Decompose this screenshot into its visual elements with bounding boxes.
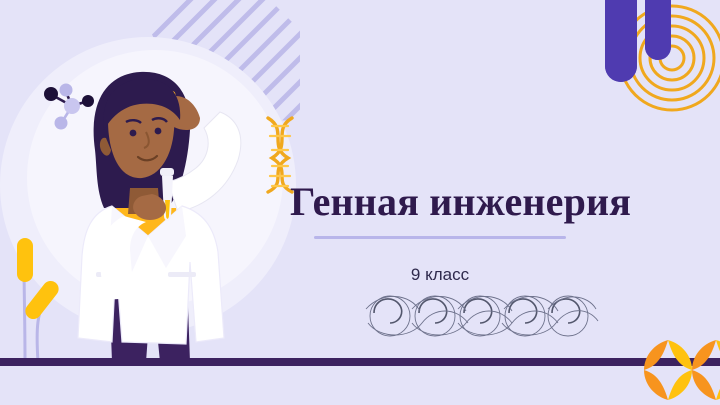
subtitle: 9 класс — [290, 265, 590, 285]
slide-canvas: Генная инженерия 9 класс — [0, 0, 720, 405]
eye-right — [155, 128, 162, 135]
swirl-line-pattern-icon — [360, 283, 600, 343]
pocket-right — [168, 272, 196, 277]
page-title: Генная инженерия — [290, 178, 590, 226]
petal-flower-pattern-icon — [620, 336, 720, 405]
text-block: Генная инженерия 9 класс — [290, 178, 590, 285]
petal-group-1 — [644, 340, 692, 400]
scientist-figure — [78, 72, 241, 362]
bottom-bar — [0, 358, 720, 366]
eye-left — [130, 130, 137, 137]
title-divider — [314, 236, 566, 239]
petal-group-2 — [692, 340, 720, 400]
